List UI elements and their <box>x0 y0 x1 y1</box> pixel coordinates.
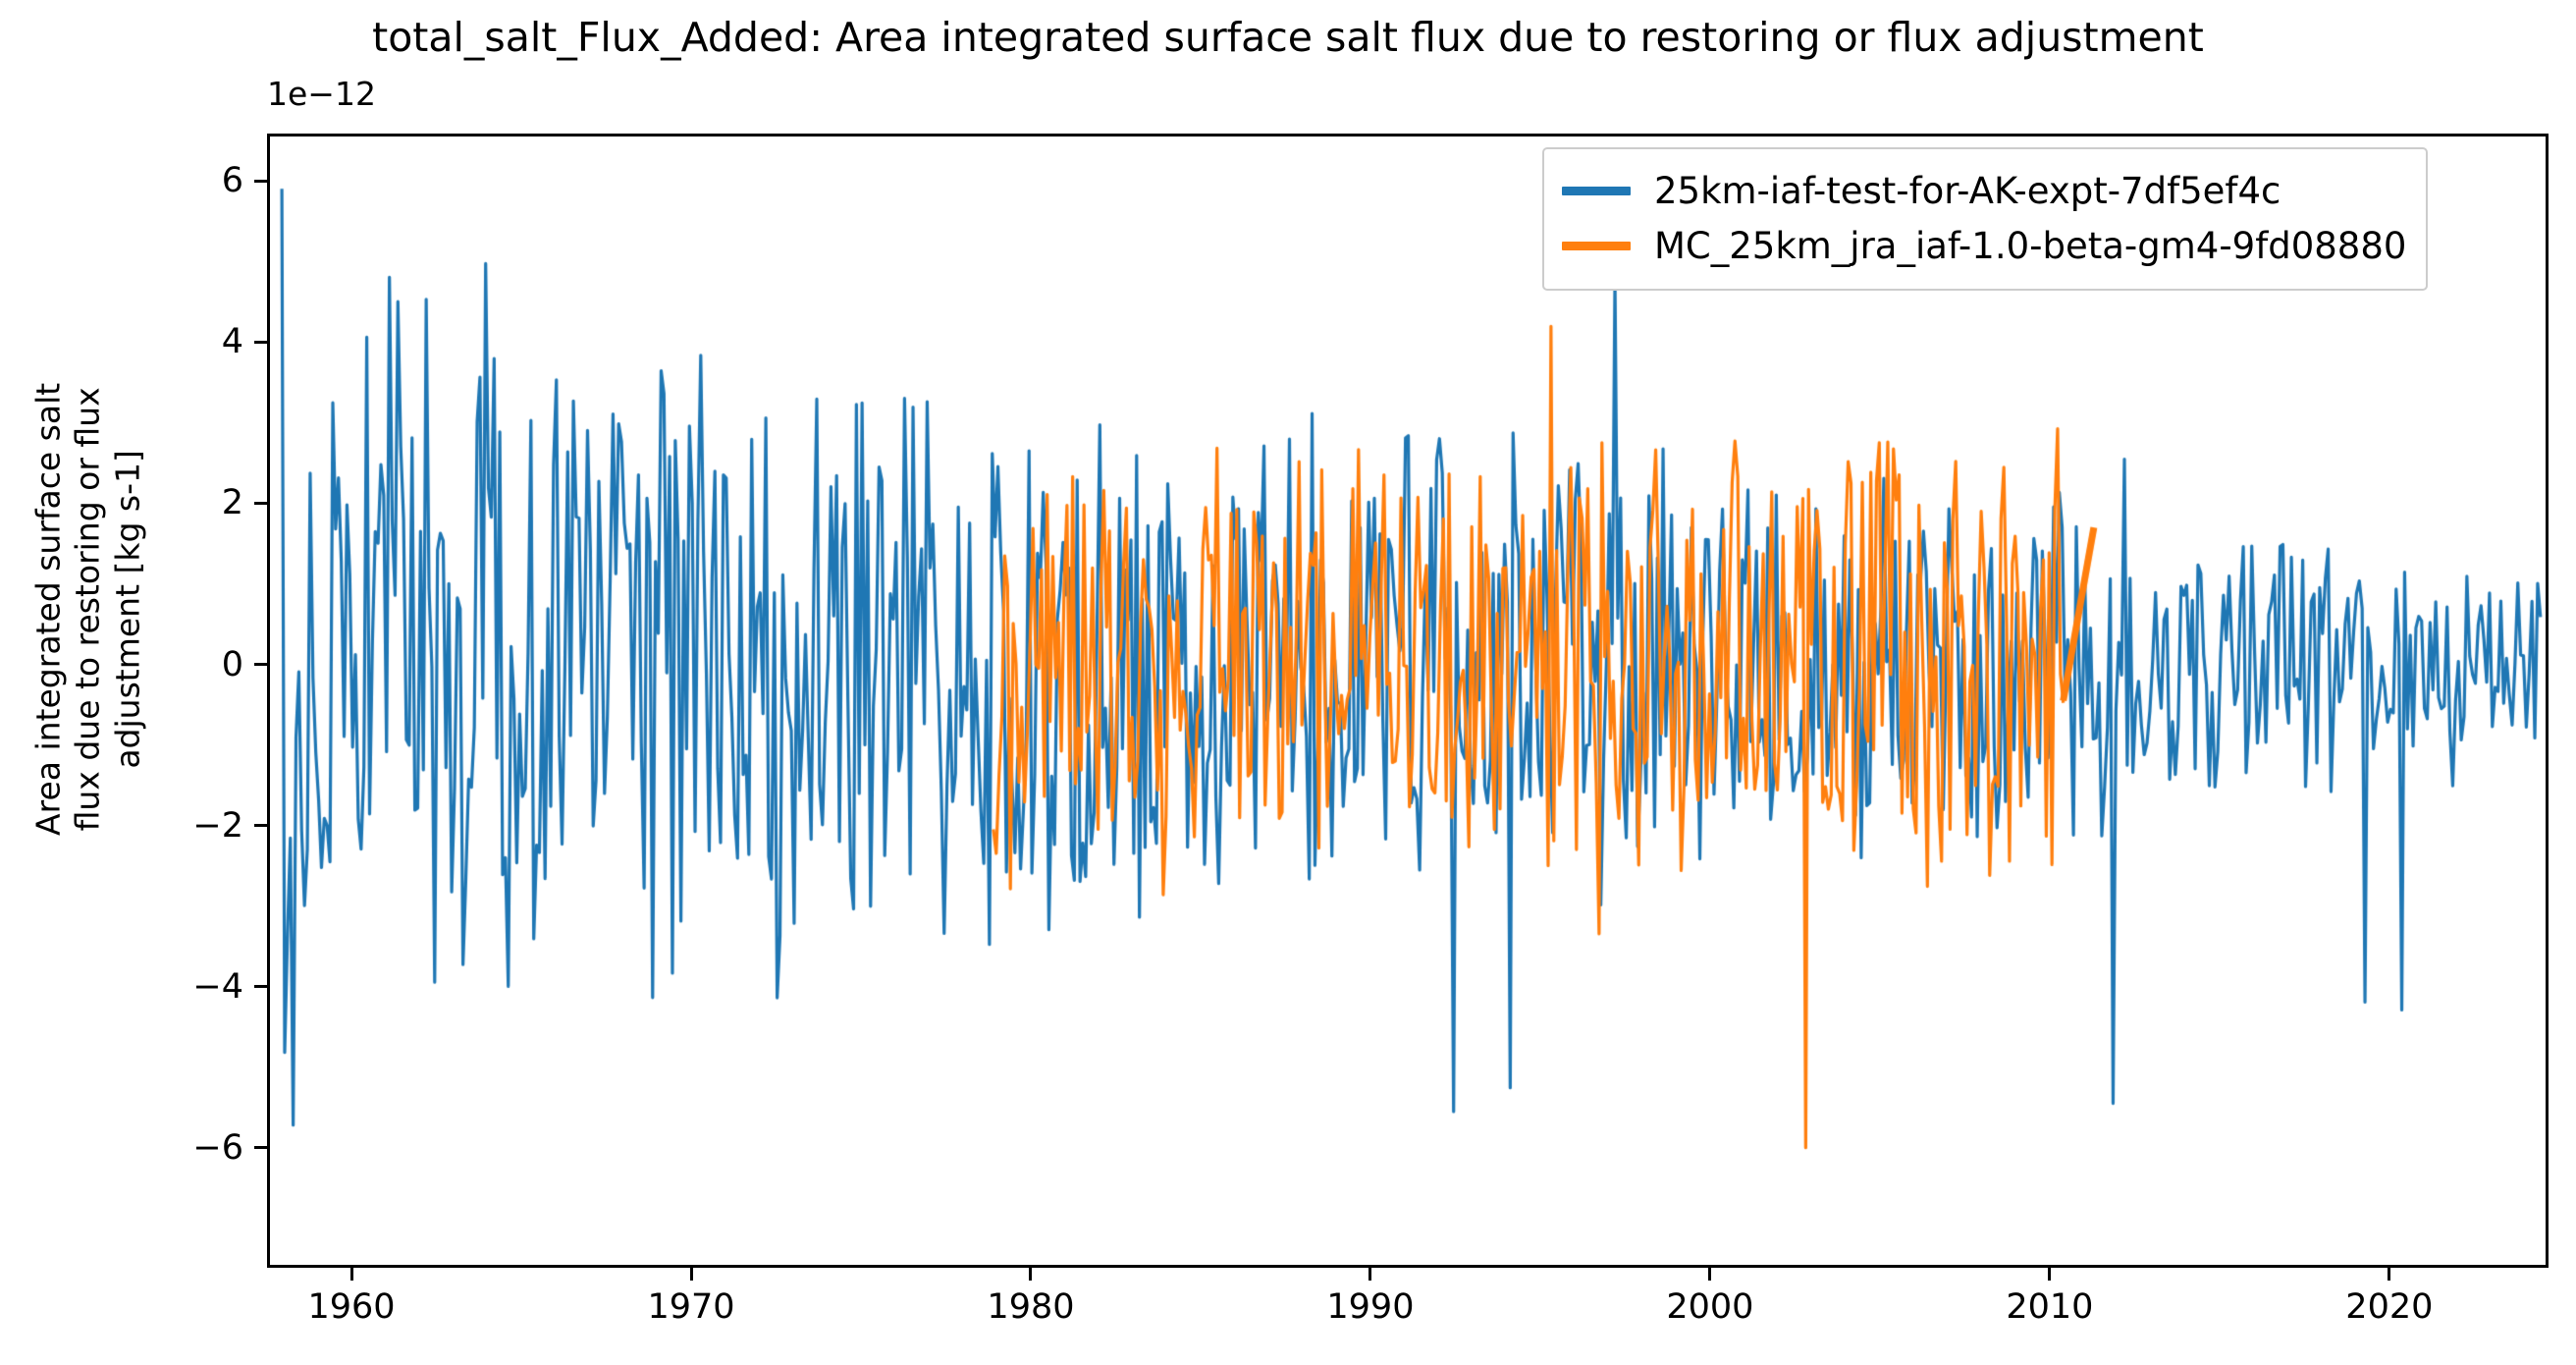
y-tick-mark <box>254 824 267 827</box>
x-tick-label: 1960 <box>307 1287 395 1327</box>
legend-swatch-orange <box>1562 242 1631 250</box>
y-tick-mark <box>254 502 267 505</box>
legend-item-1[interactable]: MC_25km_jra_iaf-1.0-beta-gm4-9fd08880 <box>1562 218 2406 273</box>
y-tick-mark <box>254 985 267 988</box>
y-tick-label: 2 <box>222 483 243 522</box>
y-tick-mark <box>254 180 267 183</box>
x-tick-label: 2010 <box>2006 1287 2093 1327</box>
legend: 25km-iaf-test-for-AK-expt-7df5ef4c MC_25… <box>1542 147 2428 291</box>
y-axis-label-line-3: adjustment [kg s-1] <box>108 236 147 982</box>
y-tick-label: −2 <box>192 806 243 846</box>
x-tick-label: 1990 <box>1326 1287 1414 1327</box>
x-tick-mark <box>1368 1268 1371 1281</box>
y-tick-mark <box>254 1146 267 1149</box>
legend-label-1: MC_25km_jra_iaf-1.0-beta-gm4-9fd08880 <box>1654 225 2406 267</box>
y-tick-mark <box>254 341 267 344</box>
legend-item-0[interactable]: 25km-iaf-test-for-AK-expt-7df5ef4c <box>1562 163 2406 218</box>
legend-label-0: 25km-iaf-test-for-AK-expt-7df5ef4c <box>1654 170 2281 212</box>
x-tick-label: 1970 <box>647 1287 734 1327</box>
y-tick-label: 4 <box>222 322 243 361</box>
x-tick-mark <box>690 1268 693 1281</box>
y-tick-label: −6 <box>192 1128 243 1168</box>
x-tick-label: 2000 <box>1666 1287 1753 1327</box>
legend-swatch-blue <box>1562 187 1631 195</box>
series-canvas <box>270 136 2546 1265</box>
x-tick-mark <box>1708 1268 1711 1281</box>
plot-area <box>267 134 2549 1268</box>
x-tick-mark <box>1029 1268 1032 1281</box>
y-tick-label: 6 <box>222 161 243 200</box>
y-axis-offset-text: 1e−12 <box>267 75 376 113</box>
x-tick-label: 1980 <box>987 1287 1074 1327</box>
chart-title: total_salt_Flux_Added: Area integrated s… <box>0 14 2576 61</box>
y-tick-mark <box>254 663 267 666</box>
y-axis-label: Area integrated surface salt flux due to… <box>29 236 148 982</box>
y-tick-label: −4 <box>192 967 243 1007</box>
x-tick-mark <box>350 1268 353 1281</box>
matplotlib-figure: total_salt_Flux_Added: Area integrated s… <box>0 0 2576 1365</box>
x-tick-mark <box>2048 1268 2051 1281</box>
y-axis-label-line-1: Area integrated surface salt <box>29 236 69 982</box>
x-tick-label: 2020 <box>2345 1287 2433 1327</box>
y-axis-label-line-2: flux due to restoring or flux <box>69 236 108 982</box>
y-tick-label: 0 <box>222 645 243 684</box>
x-tick-mark <box>2388 1268 2390 1281</box>
